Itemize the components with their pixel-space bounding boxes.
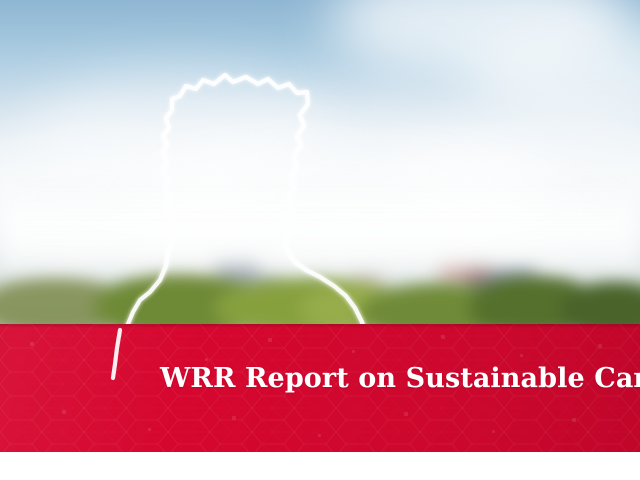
presentation-slide: WRR Report on Sustainable Care / univers…	[0, 0, 640, 480]
background-photo	[0, 0, 640, 330]
footer-bar: / university of groningen umcg	[0, 452, 640, 480]
horizon-haze	[0, 180, 640, 270]
tree-line	[0, 265, 640, 330]
page-title: WRR Report on Sustainable Care	[160, 362, 620, 396]
band-top-shadow	[0, 324, 640, 328]
